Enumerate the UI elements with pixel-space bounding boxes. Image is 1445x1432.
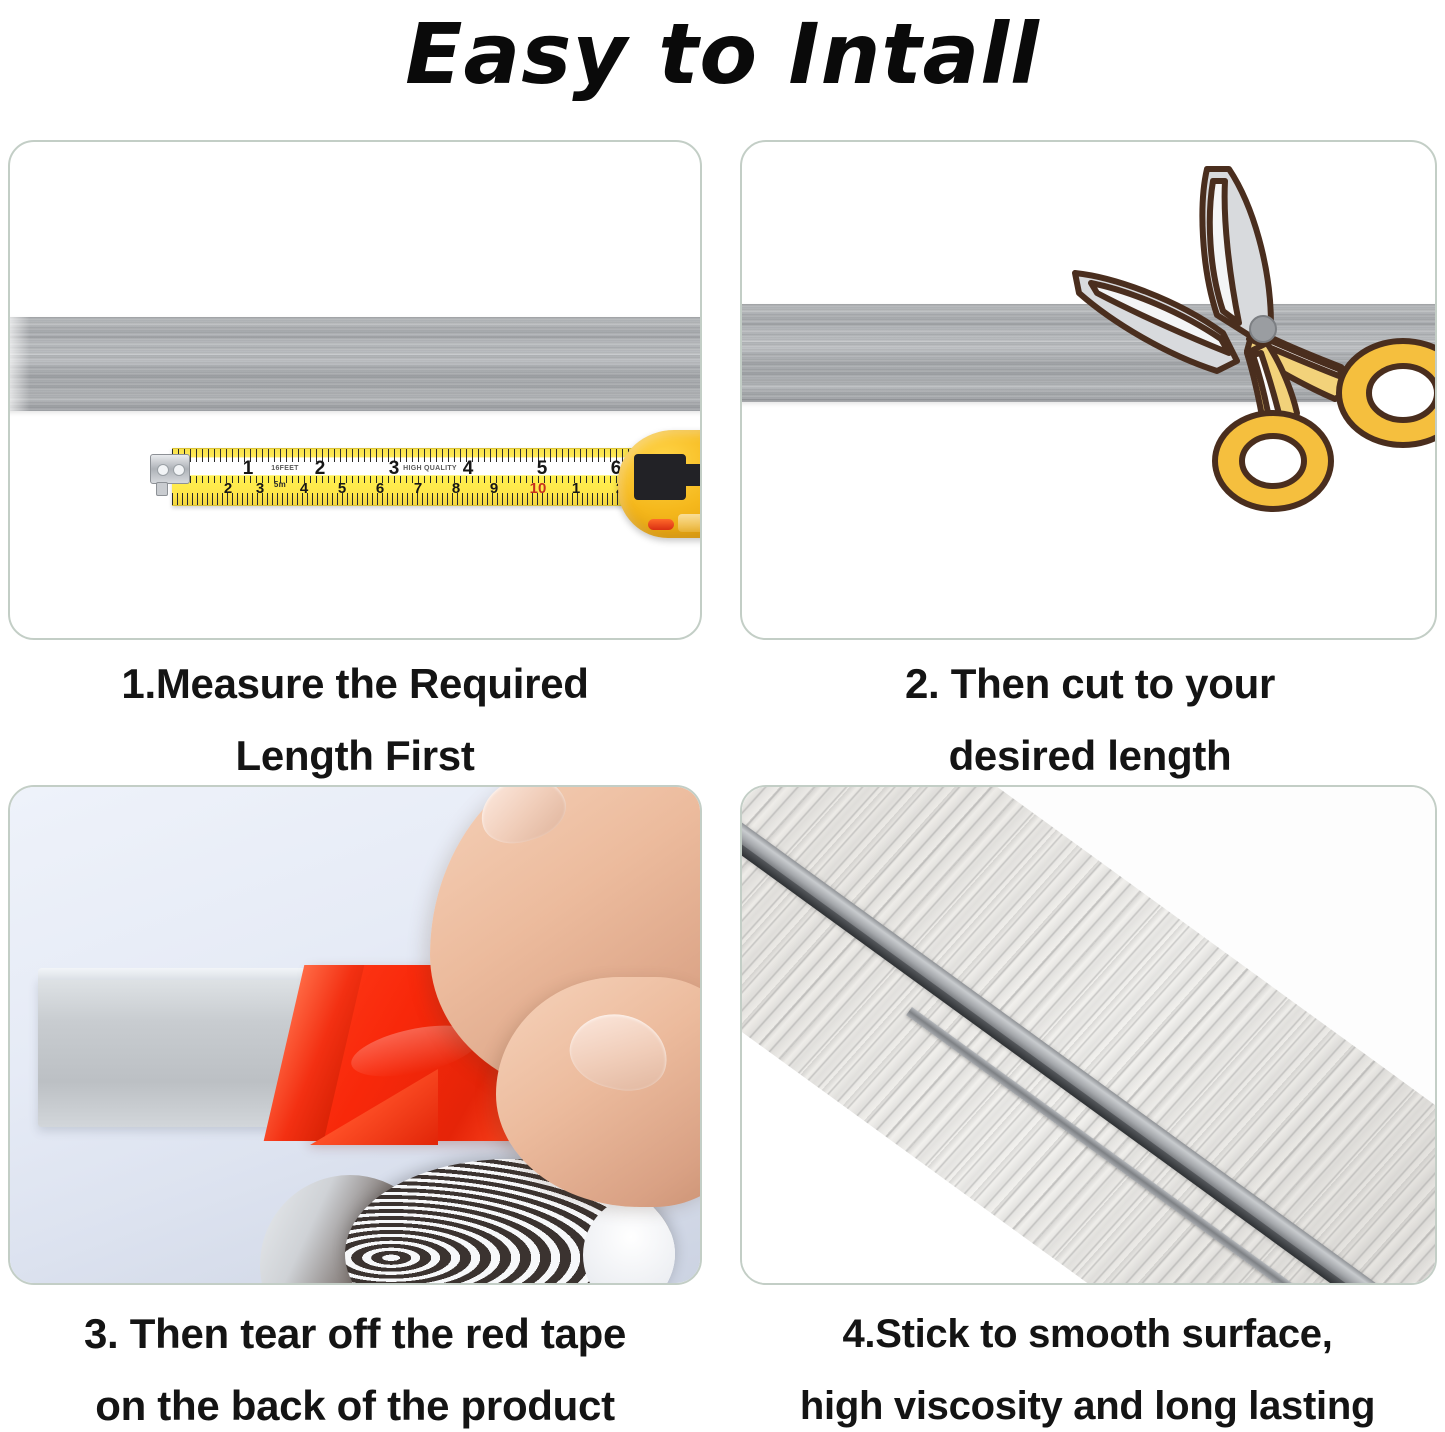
tape-metric-numbers: 2 3 4 5 6 7 8 9 10 1 2 [172, 480, 644, 496]
scissors-pivot-screw [1250, 316, 1276, 342]
tape-measure-housing [618, 430, 702, 538]
caption-line: desired length [735, 720, 1445, 792]
caption-line: high viscosity and long lasting [730, 1370, 1445, 1432]
grey-trim-strip-icon [8, 317, 702, 411]
tape-blade: 1 2 3 4 5 6 16FEET HIGH QUALITY 2 3 4 5 … [172, 448, 644, 506]
caption-line: 1.Measure the Required [0, 648, 710, 720]
tape-measure-icon: 1 2 3 4 5 6 16FEET HIGH QUALITY 2 3 4 5 … [150, 426, 702, 546]
caption-line: Length First [0, 720, 710, 792]
tape-hook-icon [150, 454, 190, 484]
tape-gloss-highlight [700, 452, 702, 472]
infographic-root: Easy to Intall 1 2 3 4 5 6 16FEET HIGH Q… [0, 0, 1445, 1432]
caption-line: 3. Then tear off the red tape [0, 1298, 710, 1370]
tape-brand-quality: HIGH QUALITY [403, 465, 457, 472]
step-3-panel [8, 785, 702, 1285]
tape-lock-lever [634, 454, 686, 500]
step-4-panel [740, 785, 1437, 1285]
tape-release-button [648, 519, 674, 530]
caption-line: 2. Then cut to your [735, 648, 1445, 720]
page-title: Easy to Intall [0, 4, 1445, 104]
scissors-icon [1057, 147, 1437, 512]
tape-body-label [678, 514, 702, 532]
installed-trim-photo [742, 787, 1435, 1283]
caption-line: on the back of the product [0, 1370, 710, 1432]
step-2-panel [740, 140, 1437, 640]
caption-line: 4.Stick to smooth surface, [730, 1298, 1445, 1370]
tape-brand-16feet: 16FEET [271, 465, 298, 472]
step-1-caption: 1.Measure the Required Length First [0, 648, 710, 792]
step-3-caption: 3. Then tear off the red tape on the bac… [0, 1298, 710, 1432]
step-2-caption: 2. Then cut to your desired length [735, 648, 1445, 792]
tape-brand-5m: 5m [274, 480, 286, 489]
step-1-panel: 1 2 3 4 5 6 16FEET HIGH QUALITY 2 3 4 5 … [8, 140, 702, 640]
peel-red-tape-photo [10, 787, 700, 1283]
tape-hook-tab [156, 482, 168, 496]
step-4-caption: 4.Stick to smooth surface, high viscosit… [730, 1298, 1445, 1432]
